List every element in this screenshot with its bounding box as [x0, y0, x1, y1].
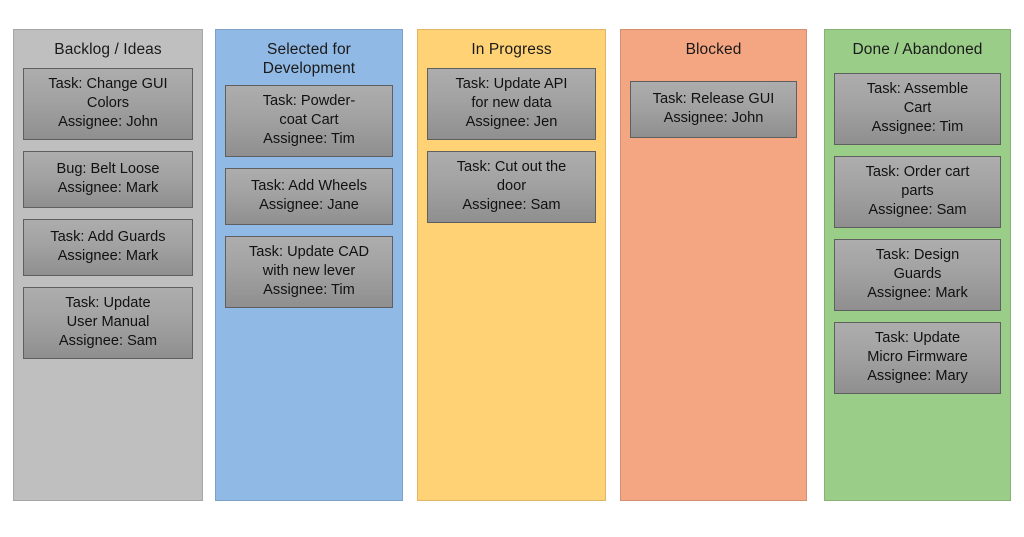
card-line: Task: Update API: [432, 75, 591, 94]
card-line: with new lever: [230, 262, 388, 281]
card-line: Task: Order cart: [839, 163, 996, 182]
task-card[interactable]: Task: Update CAD with new lever Assignee…: [225, 236, 393, 308]
card-line: Task: Assemble: [839, 80, 996, 99]
task-card[interactable]: Task: Order cart parts Assignee: Sam: [834, 156, 1001, 228]
card-line: Task: Add Guards: [28, 228, 188, 247]
card-line: Task: Update: [839, 329, 996, 348]
task-card[interactable]: Task: Update User Manual Assignee: Sam: [23, 287, 193, 359]
card-assignee: Assignee: Mark: [28, 247, 188, 266]
kanban-column-selected-for-development[interactable]: Selected for Development Task: Powder- c…: [215, 29, 403, 501]
card-assignee: Assignee: Mark: [28, 179, 188, 198]
card-line: Task: Update: [28, 294, 188, 313]
task-card[interactable]: Task: Design Guards Assignee: Mark: [834, 239, 1001, 311]
card-line: Task: Update CAD: [230, 243, 388, 262]
card-line: parts: [839, 182, 996, 201]
card-assignee: Assignee: Mark: [839, 284, 996, 303]
column-header-blocked: Blocked: [621, 30, 806, 59]
column-header-done-abandoned: Done / Abandoned: [825, 30, 1010, 59]
kanban-column-in-progress[interactable]: In Progress Task: Update API for new dat…: [417, 29, 606, 501]
card-line: door: [432, 177, 591, 196]
task-card[interactable]: Task: Powder- coat Cart Assignee: Tim: [225, 85, 393, 157]
card-assignee: Assignee: Tim: [839, 118, 996, 137]
card-line: Task: Cut out the: [432, 158, 591, 177]
card-line: Colors: [28, 94, 188, 113]
task-card[interactable]: Bug: Belt Loose Assignee: Mark: [23, 151, 193, 208]
kanban-column-backlog[interactable]: Backlog / Ideas Task: Change GUI Colors …: [13, 29, 203, 501]
task-card[interactable]: Task: Cut out the door Assignee: Sam: [427, 151, 596, 223]
card-list-in-progress: Task: Update API for new data Assignee: …: [418, 68, 605, 223]
card-assignee: Assignee: Sam: [432, 196, 591, 215]
card-assignee: Assignee: Mary: [839, 367, 996, 386]
card-assignee: Assignee: Tim: [230, 130, 388, 149]
card-line: Task: Design: [839, 246, 996, 265]
card-assignee: Assignee: John: [635, 109, 792, 128]
card-line: User Manual: [28, 313, 188, 332]
task-card[interactable]: Task: Update API for new data Assignee: …: [427, 68, 596, 140]
column-header-in-progress: In Progress: [418, 30, 605, 59]
card-assignee: Assignee: John: [28, 113, 188, 132]
card-line: Task: Add Wheels: [230, 177, 388, 196]
card-assignee: Assignee: Tim: [230, 281, 388, 300]
card-assignee: Assignee: Sam: [839, 201, 996, 220]
card-assignee: Assignee: Jane: [230, 196, 388, 215]
card-line: Task: Change GUI: [28, 75, 188, 94]
task-card[interactable]: Task: Assemble Cart Assignee: Tim: [834, 73, 1001, 145]
column-header-backlog: Backlog / Ideas: [14, 30, 202, 59]
card-line: Guards: [839, 265, 996, 284]
card-line: Bug: Belt Loose: [28, 160, 188, 179]
card-assignee: Assignee: Jen: [432, 113, 591, 132]
card-assignee: Assignee: Sam: [28, 332, 188, 351]
card-list-backlog: Task: Change GUI Colors Assignee: John B…: [14, 68, 202, 359]
task-card[interactable]: Task: Change GUI Colors Assignee: John: [23, 68, 193, 140]
task-card[interactable]: Task: Release GUI Assignee: John: [630, 81, 797, 138]
card-line: Micro Firmware: [839, 348, 996, 367]
card-line: coat Cart: [230, 111, 388, 130]
kanban-board: Backlog / Ideas Task: Change GUI Colors …: [0, 0, 1024, 537]
card-line: Task: Release GUI: [635, 90, 792, 109]
card-line: Task: Powder-: [230, 92, 388, 111]
task-card[interactable]: Task: Add Guards Assignee: Mark: [23, 219, 193, 276]
kanban-column-blocked[interactable]: Blocked Task: Release GUI Assignee: John: [620, 29, 807, 501]
card-line: for new data: [432, 94, 591, 113]
column-header-selected-for-development: Selected for Development: [216, 30, 402, 78]
card-list-done-abandoned: Task: Assemble Cart Assignee: Tim Task: …: [825, 73, 1010, 394]
task-card[interactable]: Task: Add Wheels Assignee: Jane: [225, 168, 393, 225]
task-card[interactable]: Task: Update Micro Firmware Assignee: Ma…: [834, 322, 1001, 394]
kanban-column-done-abandoned[interactable]: Done / Abandoned Task: Assemble Cart Ass…: [824, 29, 1011, 501]
card-list-selected-for-development: Task: Powder- coat Cart Assignee: Tim Ta…: [216, 85, 402, 308]
card-line: Cart: [839, 99, 996, 118]
card-list-blocked: Task: Release GUI Assignee: John: [621, 81, 806, 138]
